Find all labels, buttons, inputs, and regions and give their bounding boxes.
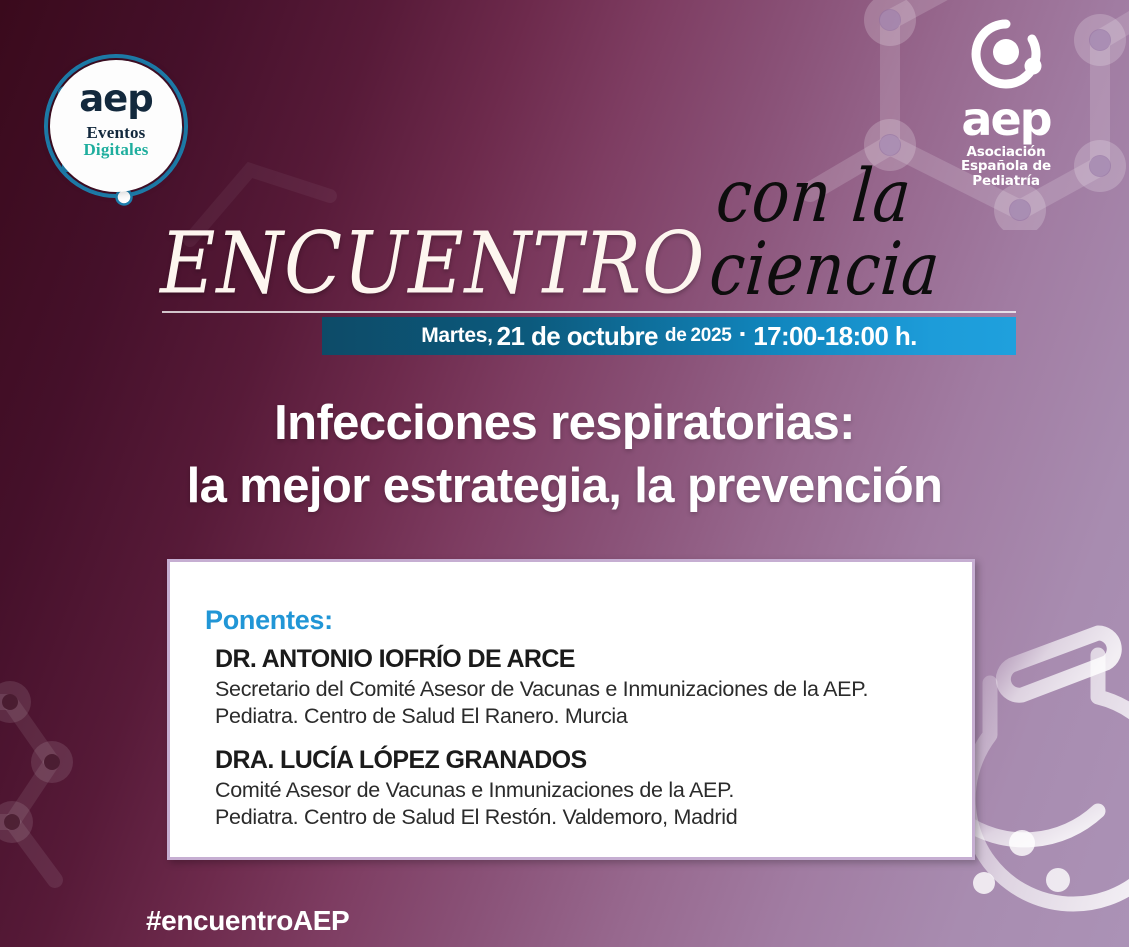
badge-digitales-label: Digitales xyxy=(36,141,196,158)
speaker-affiliation-line2: Pediatra. Centro de Salud El Restón. Val… xyxy=(215,804,972,831)
aep-wordmark: aep xyxy=(941,98,1071,142)
page-title-line1: Infecciones respiratorias: xyxy=(0,392,1129,455)
aep-eventos-digitales-logo: aep Eventos Digitales xyxy=(36,46,196,206)
date-separator-icon: ▪ xyxy=(740,327,746,343)
encuentro-word: ENCUENTRO xyxy=(160,221,705,306)
aep-subtitle-line1: Asociación xyxy=(941,145,1071,160)
speakers-panel: Ponentes: DR. ANTONIO IOFRÍO DE ARCE Sec… xyxy=(167,559,975,860)
speaker-affiliation-line2: Pediatra. Centro de Salud El Ranero. Mur… xyxy=(215,703,972,730)
speaker-entry: DRA. LUCÍA LÓPEZ GRANADOS Comité Asesor … xyxy=(215,746,972,830)
con-la-ciencia-word: con la ciencia xyxy=(707,160,1033,306)
page-title-line2: la mejor estrategia, la prevención xyxy=(0,455,1129,518)
badge-text-group: aep Eventos Digitales xyxy=(36,80,196,158)
speaker-affiliation-line1: Comité Asesor de Vacunas e Inmunizacione… xyxy=(215,777,972,804)
date-time-range: 17:00-18:00 h. xyxy=(753,321,917,352)
poster-canvas: aep Eventos Digitales aep Asociación Esp… xyxy=(0,0,1129,947)
event-series-title: ENCUENTRO con la ciencia xyxy=(160,206,1020,306)
speaker-name: DR. ANTONIO IOFRÍO DE ARCE xyxy=(215,645,972,674)
date-year: 2025 xyxy=(690,325,731,347)
event-hashtag: #encuentroAEP xyxy=(146,905,349,937)
lab-flask-icon xyxy=(960,625,1129,947)
speaker-entry: DR. ANTONIO IOFRÍO DE ARCE Secretario de… xyxy=(215,645,972,729)
speaker-affiliation-line1: Secretario del Comité Asesor de Vacunas … xyxy=(215,676,972,703)
title-divider-rule xyxy=(162,311,1016,313)
aep-circle-mark-icon xyxy=(963,16,1049,96)
page-title: Infecciones respiratorias: la mejor estr… xyxy=(0,392,1129,517)
date-day-month: 21 de octubre xyxy=(497,321,658,352)
speaker-name: DRA. LUCÍA LÓPEZ GRANADOS xyxy=(215,746,972,775)
event-datetime-bar: Martes, 21 de octubre de 2025 ▪ 17:00-18… xyxy=(322,317,1016,355)
speakers-heading: Ponentes: xyxy=(205,605,972,636)
date-weekday: Martes, xyxy=(421,324,492,348)
date-de: de xyxy=(665,325,687,347)
badge-aep-wordmark: aep xyxy=(36,80,196,117)
badge-eventos-label: Eventos xyxy=(36,124,196,141)
